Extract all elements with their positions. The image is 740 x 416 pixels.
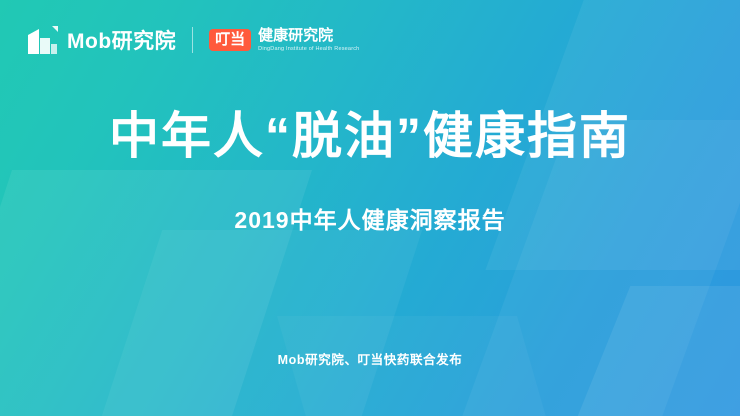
dingdang-logo: 叮当 健康研究院 DingDang Institute of Health Re… (209, 28, 359, 52)
dingdang-badge: 叮当 (209, 29, 251, 51)
mob-building-mark-icon (26, 24, 60, 56)
title-block: 中年人“脱油”健康指南 2019中年人健康洞察报告 (0, 108, 740, 235)
logo-bar: Mob研究院 叮当 健康研究院 DingDang Institute of He… (26, 20, 359, 60)
page-subtitle: 2019中年人健康洞察报告 (0, 201, 740, 235)
mob-logo: Mob研究院 (26, 24, 176, 56)
mob-logo-text: Mob研究院 (67, 25, 176, 55)
page-title: 中年人“脱油”健康指南 (0, 108, 740, 166)
logo-divider (192, 27, 193, 53)
dingdang-name-block: 健康研究院 DingDang Institute of Health Resea… (258, 28, 359, 52)
dingdang-name-en: DingDang Institute of Health Research (258, 46, 359, 53)
dingdang-name-cn: 健康研究院 (258, 28, 359, 44)
title-slide: Mob研究院 叮当 健康研究院 DingDang Institute of He… (0, 0, 740, 416)
publisher-text: Mob研究院、叮当快药联合发布 (0, 349, 740, 368)
decorative-shape-2 (78, 230, 422, 416)
